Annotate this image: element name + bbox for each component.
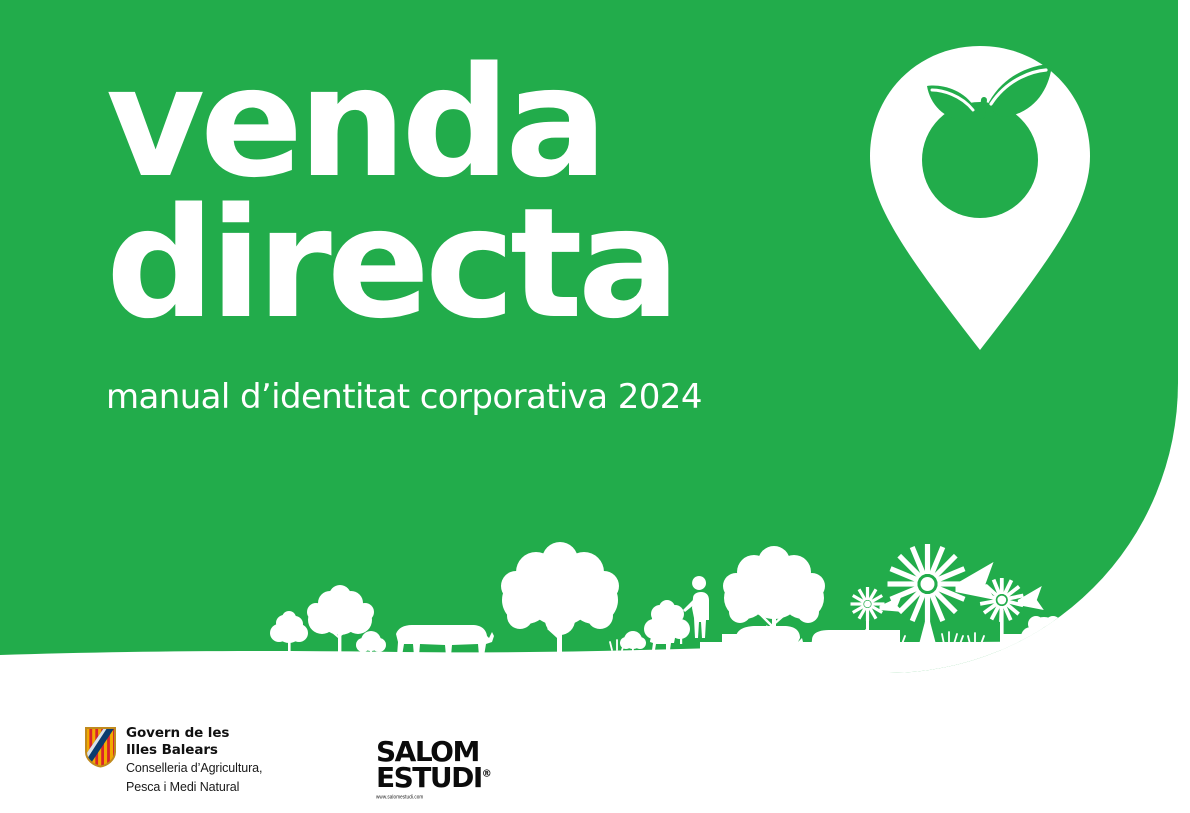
illes-balears-shield: [84, 726, 117, 768]
tree-large-center: [501, 542, 619, 656]
registered-mark-icon: ®: [482, 768, 492, 779]
windmill-blades: [851, 587, 885, 621]
windmill-large-center: [888, 544, 996, 648]
govern-line-3: Conselleria d’Agricultura,: [126, 760, 262, 776]
bush-far-right: [1085, 616, 1127, 646]
cover-green-panel: venda directa manual d’identitat corpora…: [0, 0, 1178, 673]
rural-landscape-silhouette: [0, 538, 1178, 673]
govern-line-1: Govern de les: [126, 725, 262, 742]
govern-line-4: Pesca i Medi Natural: [126, 779, 262, 795]
govern-illes-balears-logo: Govern de les Illes Balears Conselleria …: [84, 725, 262, 795]
salom-line-2: ESTUDI®: [376, 765, 492, 791]
fruit-body-icon: [922, 102, 1038, 218]
salom-word: ESTUDI: [376, 761, 482, 794]
salom-estudi-logo: SALOM ESTUDI® www.salomestudi.com: [376, 739, 492, 799]
cow-silhouette: [396, 625, 494, 656]
venda-directa-pin-logo: [864, 42, 1096, 354]
windmill-blades-right: [980, 578, 1024, 622]
cover-subtitle: manual d’identitat corporativa 2024: [106, 377, 702, 417]
cover-title: venda directa: [106, 52, 675, 335]
tree-small-mid: [644, 600, 690, 656]
govern-text-block: Govern de les Illes Balears Conselleria …: [126, 725, 262, 795]
govern-line-2: Illes Balears: [126, 742, 262, 759]
fruit-stem-icon: [982, 100, 984, 116]
salom-url: www.salomestudi.com: [376, 794, 492, 800]
title-line-venda: venda: [106, 52, 675, 193]
title-line-directa: directa: [106, 193, 675, 334]
tree-small-left: [270, 611, 308, 656]
footer-logo-bar: Govern de les Illes Balears Conselleria …: [0, 673, 1190, 813]
